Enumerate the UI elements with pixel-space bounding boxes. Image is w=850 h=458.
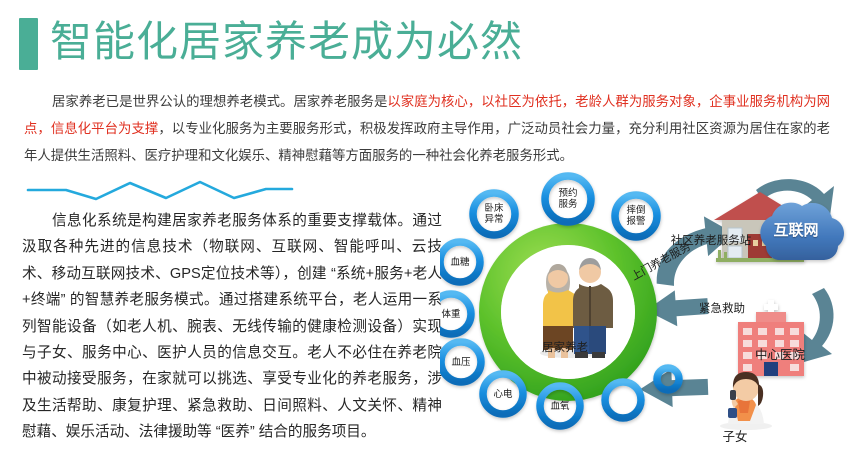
label-internet: 互联网 [755,219,837,240]
intro-paragraph: 居家养老已是世界公认的理想养老模式。居家养老服务是以家庭为核心，以社区为依托，老… [24,88,830,169]
zigzag-line-icon [26,178,294,202]
slide-canvas: 智能化居家养老成为必然 居家养老已是世界公认的理想养老模式。居家养老服务是以家庭… [0,0,850,458]
slide-header: 智能化居家养老成为必然 [0,8,850,74]
sensor-bubble-ring[interactable] [440,242,480,282]
woman-phone-icon [720,372,772,430]
title-accent-bar [19,18,38,70]
sensor-bubble-ring[interactable] [483,374,523,414]
label-emergency-aid: 紧急救助 [686,300,758,316]
label-central-hospital: 中心医院 [740,344,820,363]
page-title: 智能化居家养老成为必然 [50,12,523,72]
body-paragraph: 信息化系统是构建居家养老服务体系的重要支撑载体。通过汲取各种先进的信息技术（物联… [22,208,442,446]
sensor-bubble-ring[interactable] [545,176,591,222]
sensor-bubble-ring[interactable] [440,294,471,334]
sensor-bubble-ring[interactable] [605,382,641,418]
home-care-ecosystem-diagram: 社区养老服务站 紧急救助 中心医院 子女 卧床异常预约服务摔倒报警血糖体重血压心… [440,172,850,458]
sensor-bubble-ring[interactable] [473,193,515,235]
label-home-care-center: 居家养老 [505,339,625,355]
label-children: 子女 [705,426,765,445]
sensor-bubble-ring[interactable] [441,342,481,382]
intro-text-part1: 居家养老已是世界公认的理想养老模式。居家养老服务是 [52,94,387,109]
sensor-bubble-ring[interactable] [615,195,657,237]
